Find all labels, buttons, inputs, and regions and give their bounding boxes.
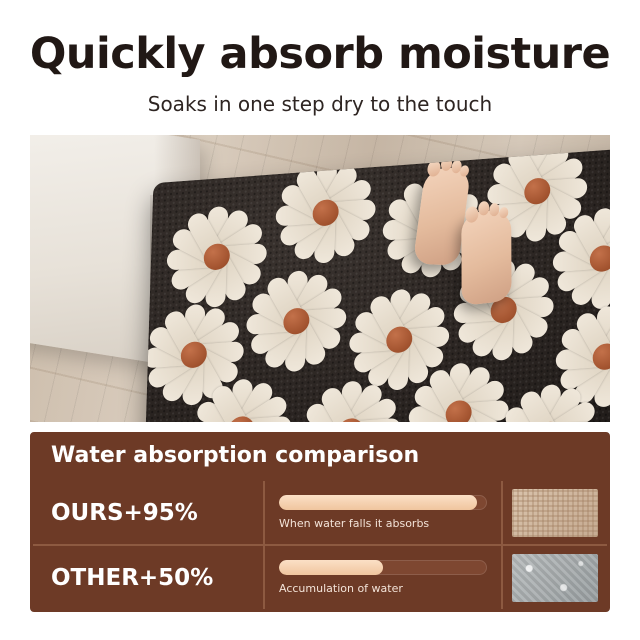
row-swatch-other (503, 546, 607, 609)
table-row: OTHER+50% Accumulation of water (33, 544, 607, 609)
row-label-other: OTHER+50% (33, 546, 265, 609)
page-subtitle: Soaks in one step dry to the touch (0, 92, 640, 116)
hero-photo (30, 135, 610, 422)
daisy-flower (492, 375, 607, 422)
toe (499, 207, 508, 219)
row-bar-ours: When water falls it absorbs (265, 481, 503, 544)
comparison-rows: OURS+95% When water falls it absorbs OTH… (33, 481, 607, 609)
bar-fill (279, 560, 383, 575)
toe (426, 160, 441, 177)
bar-track (279, 560, 487, 575)
toe (465, 206, 478, 223)
daisy-bath-mat (144, 145, 610, 422)
table-row: OURS+95% When water falls it absorbs (33, 481, 607, 544)
toe (489, 203, 499, 217)
comparison-panel: Water absorption comparison OURS+95% Whe… (30, 432, 610, 612)
row-label-ours: OURS+95% (33, 481, 265, 544)
row-swatch-ours (503, 481, 607, 544)
bar-fill (279, 495, 477, 510)
bar-track (279, 495, 487, 510)
page-title: Quickly absorb moisture (0, 32, 640, 77)
woven-fabric-swatch (512, 489, 598, 537)
daisy-flower (239, 261, 354, 382)
bar-caption: Accumulation of water (279, 582, 487, 595)
comparison-title: Water absorption comparison (51, 443, 419, 468)
right-foot (461, 208, 511, 306)
daisy-flower (184, 369, 299, 422)
gray-stone-swatch (512, 554, 598, 602)
bar-caption: When water falls it absorbs (279, 517, 487, 530)
daisy-flower (293, 371, 408, 422)
product-infographic: Quickly absorb moisture Soaks in one ste… (0, 0, 640, 640)
row-bar-other: Accumulation of water (265, 546, 503, 609)
toe (478, 201, 489, 216)
